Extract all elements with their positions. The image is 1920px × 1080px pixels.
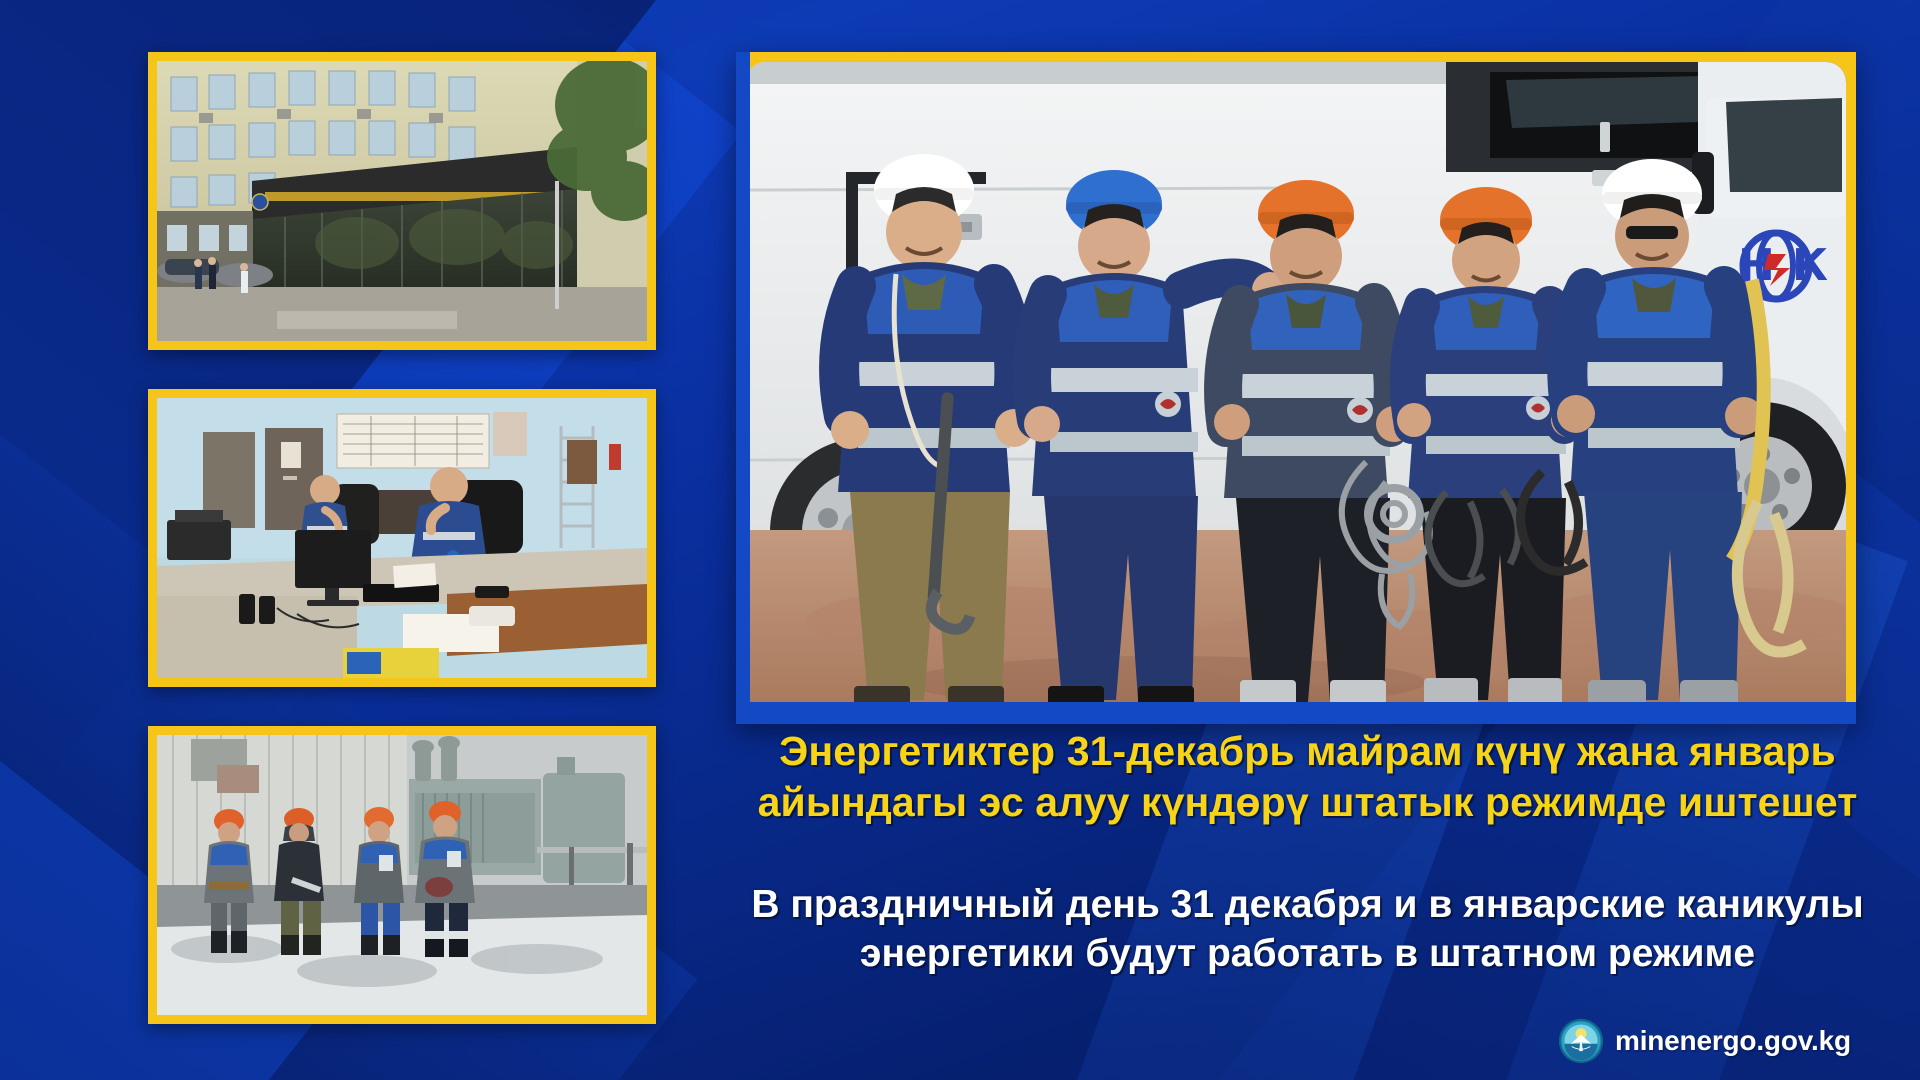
ministry-building-artwork (157, 61, 647, 341)
dispatch-office-photo (148, 389, 656, 687)
slide-text-block: Энергетиктер 31-декабрь майрам күнү жана… (700, 726, 1915, 978)
slide-canvas: Н К (0, 0, 1920, 1080)
winter-crew-photo (148, 726, 656, 1024)
main-photo-left-edge (736, 52, 750, 724)
brand-url-text: minenergo.gov.kg (1615, 1025, 1851, 1057)
ministry-building-photo (148, 52, 656, 350)
winter-crew-artwork (157, 735, 647, 1015)
svg-text:К: К (1792, 240, 1828, 291)
headline-kyrgyz: Энергетиктер 31-декабрь майрам күнү жана… (700, 726, 1915, 828)
brand-footer[interactable]: minenergo.gov.kg (1558, 1018, 1851, 1064)
repair-crew-truck-photo: Н К (736, 52, 1856, 724)
kyrgyzstan-coat-of-arms-icon (1558, 1018, 1604, 1064)
dispatch-office-artwork (157, 398, 647, 678)
headline-russian: В праздничный день 31 декабря и в январс… (700, 880, 1915, 978)
thumbnail-photo-column (148, 52, 656, 1024)
main-photo-bottom-edge (736, 702, 1856, 724)
repair-crew-truck-artwork: Н К (746, 62, 1846, 714)
